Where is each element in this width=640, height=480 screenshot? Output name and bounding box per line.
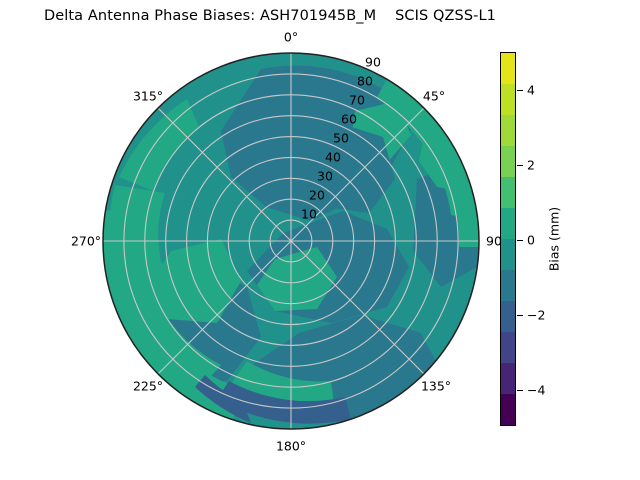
colorbar-band-5 [501,239,515,270]
r-label-60: 60 [341,112,357,127]
theta-label-315: 315° [133,89,163,104]
colorbar-band-0 [501,394,515,425]
colorbar-tick-0 [517,240,523,241]
colorbar-band-10 [501,84,515,115]
colorbar-band-2 [501,332,515,363]
colorbar[interactable] [500,52,516,426]
theta-label-270: 270° [71,234,101,249]
colorbar-ticklabel-2: 2 [527,158,535,173]
colorbar-ticklabel-4: 4 [527,83,535,98]
colorbar-tick-neg4 [517,390,523,391]
colorbar-band-1 [501,363,515,394]
colorbar-band-3 [501,301,515,332]
colorbar-ticklabel-neg2: −2 [527,307,545,322]
theta-label-180: 180° [276,439,306,454]
colorbar-tick-4 [517,90,523,91]
polar-chart-figure: Delta Antenna Phase Biases: ASH701945B_M… [0,0,640,480]
r-label-20: 20 [309,188,325,203]
r-label-50: 50 [333,131,349,146]
colorbar-band-11 [501,53,515,84]
theta-label-135: 135° [421,379,451,394]
colorbar-ticklabel-neg4: −4 [527,382,545,397]
colorbar-tick-2 [517,165,523,166]
r-label-40: 40 [325,150,341,165]
colorbar-band-8 [501,146,515,177]
page-title: Delta Antenna Phase Biases: ASH701945B_M… [0,8,540,24]
colorbar-band-9 [501,115,515,146]
colorbar-axis-label: Bias (mm) [547,207,562,271]
colorbar-band-4 [501,270,515,301]
theta-label-0: 0° [284,30,298,45]
colorbar-ticklabel-0: 0 [527,233,535,248]
theta-label-45: 45° [423,89,445,104]
colorbar-band-6 [501,208,515,239]
colorbar-tick-neg2 [517,315,523,316]
r-label-80: 80 [357,74,373,89]
r-label-30: 30 [317,169,333,184]
r-label-90: 90 [365,55,381,70]
r-label-70: 70 [349,93,365,108]
r-label-10: 10 [301,207,317,222]
theta-label-225: 225° [133,379,163,394]
colorbar-band-7 [501,177,515,208]
angular-gridlines [103,53,479,429]
